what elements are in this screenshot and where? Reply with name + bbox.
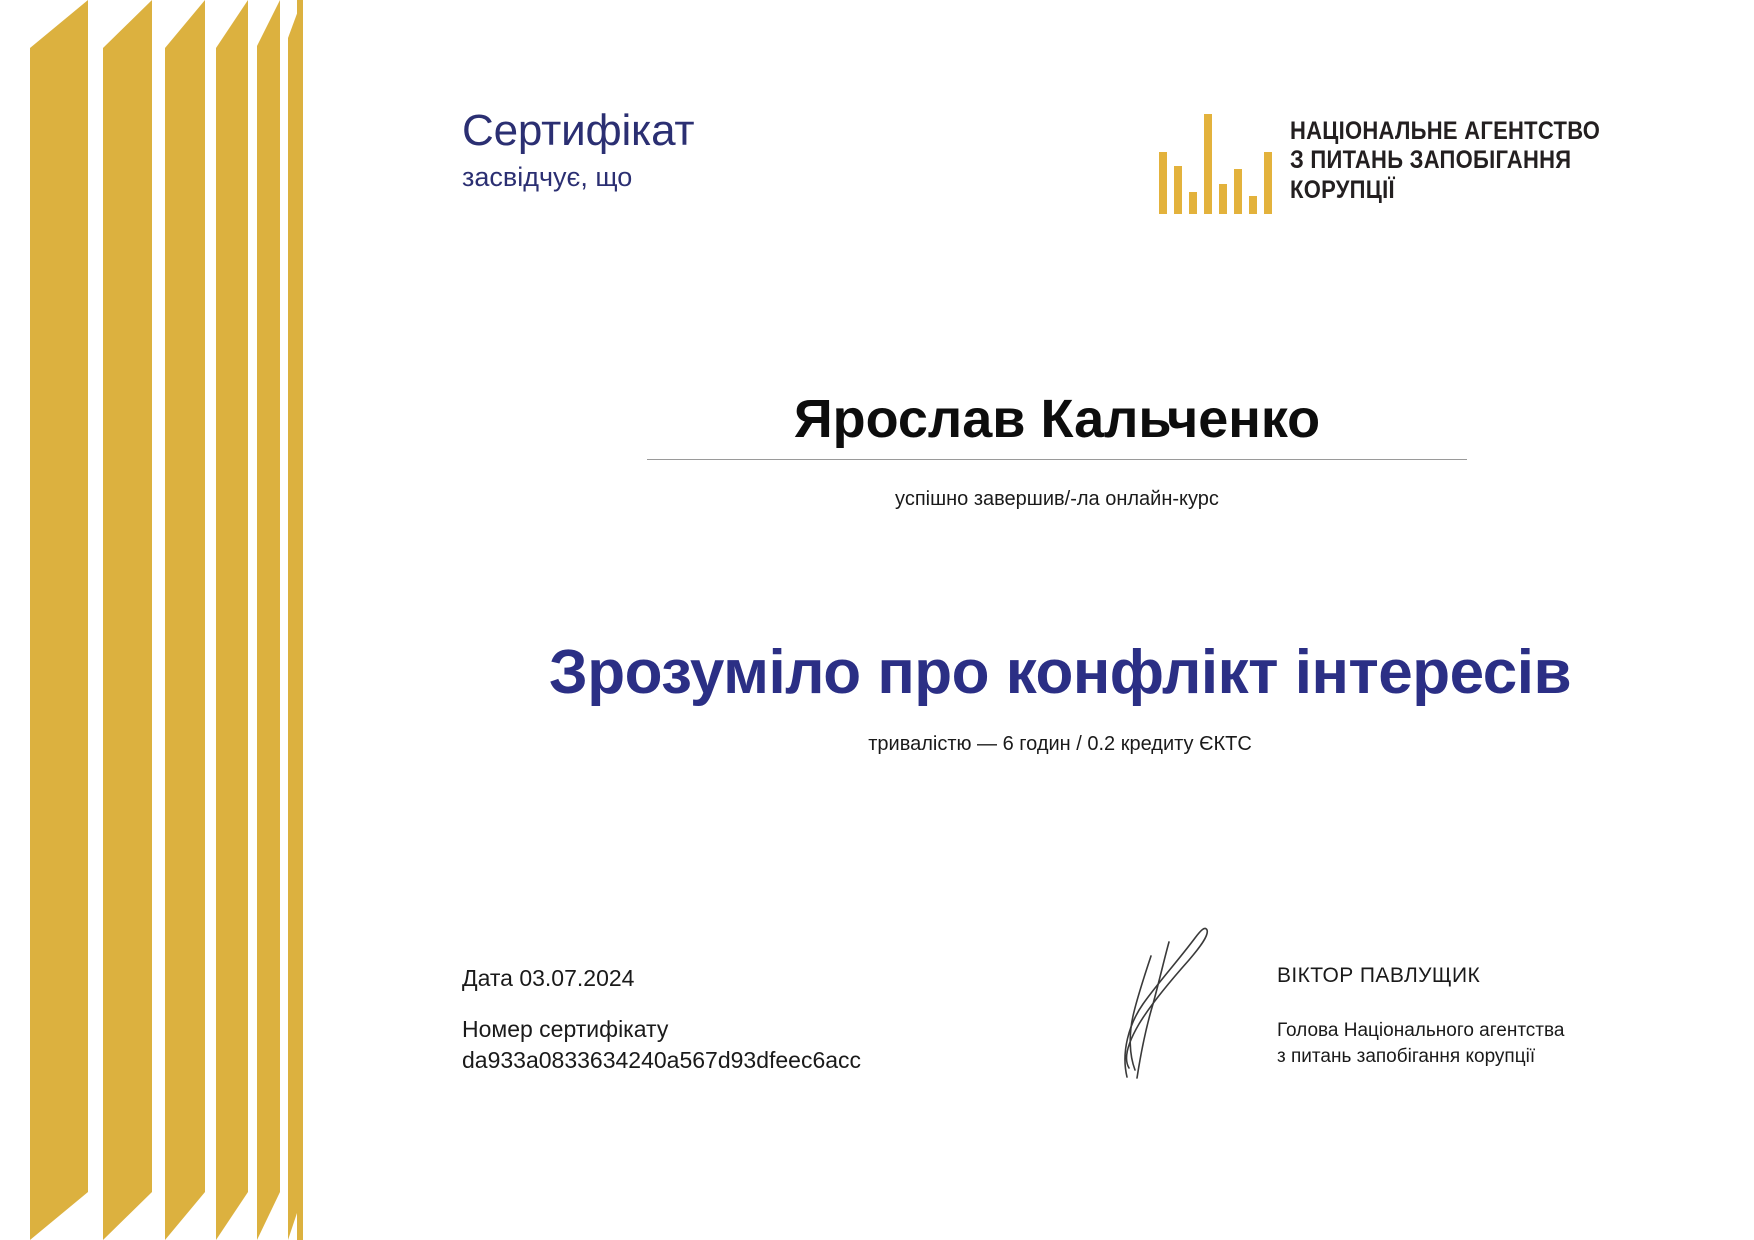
stripe-1 (30, 0, 88, 1240)
date-label: Дата (462, 965, 513, 991)
footer-left: Дата 03.07.2024 Номер сертифікату da933a… (462, 962, 861, 1076)
stripe-4 (216, 0, 248, 1240)
signatory-role-line-1: Голова Національного агентства (1277, 1020, 1564, 1041)
recipient-underline (647, 459, 1467, 460)
logo-line-1: НАЦІОНАЛЬНЕ АГЕНТСТВО (1290, 117, 1600, 146)
stripe-5 (257, 0, 280, 1240)
course-title: Зрозуміло про конфлікт інтересів (420, 638, 1700, 707)
course-block: Зрозуміло про конфлікт інтересів тривалі… (420, 638, 1700, 756)
logo-bar (1159, 152, 1167, 214)
recipient-block: Ярослав Кальченко успішно завершив/-ла о… (462, 390, 1652, 511)
signatory-role: Голова Національного агентства з питань … (1277, 1018, 1564, 1070)
signature-icon (1085, 912, 1245, 1082)
logo-bar (1174, 166, 1182, 214)
logo-bar (1189, 192, 1197, 214)
logo-bars-icon (1159, 114, 1272, 214)
logo-bar (1249, 196, 1257, 214)
signature-image (1085, 912, 1245, 1082)
decorative-stripes-svg (0, 0, 310, 1240)
stripe-3 (165, 0, 205, 1240)
logo-bar (1204, 114, 1212, 214)
certificate-header: Сертифікат засвідчує, що НАЦІОНАЛЬНЕ АГЕ… (462, 108, 1642, 214)
signatory-block: ВІКТОР ПАВЛУЩИК Голова Національного аге… (1277, 912, 1564, 1070)
date-line: Дата 03.07.2024 (462, 962, 861, 994)
page-subtitle: засвідчує, що (462, 162, 694, 193)
stripe-7 (297, 0, 303, 1240)
page-title: Сертифікат (462, 108, 694, 154)
date-value: 03.07.2024 (519, 965, 634, 991)
logo-line-3: КОРУПЦІЇ (1290, 176, 1600, 205)
footer-right: ВІКТОР ПАВЛУЩИК Голова Національного аге… (1085, 912, 1564, 1082)
course-duration: тривалістю — 6 годин / 0.2 кредиту ЄКТС (420, 733, 1700, 756)
certificate-page: Сертифікат засвідчує, що НАЦІОНАЛЬНЕ АГЕ… (0, 0, 1754, 1240)
stripe-2 (103, 0, 152, 1240)
certificate-number-value: da933a0833634240a567d93dfeec6acc (462, 1045, 861, 1076)
logo-text: НАЦІОНАЛЬНЕ АГЕНТСТВО З ПИТАНЬ ЗАПОБІГАН… (1290, 114, 1642, 205)
logo-bar (1219, 184, 1227, 214)
signatory-name: ВІКТОР ПАВЛУЩИК (1277, 964, 1564, 988)
completion-text: успішно завершив/-ла онлайн-курс (462, 488, 1652, 511)
title-block: Сертифікат засвідчує, що (462, 108, 694, 193)
certificate-number-label: Номер сертифікату (462, 1014, 861, 1045)
logo-bar (1264, 152, 1272, 214)
signatory-role-line-2: з питань запобігання корупції (1277, 1046, 1535, 1067)
logo-bar (1234, 169, 1242, 214)
stripe-group (30, 0, 303, 1240)
recipient-name: Ярослав Кальченко (462, 390, 1652, 459)
logo-line-2: З ПИТАНЬ ЗАПОБІГАННЯ (1290, 146, 1600, 175)
nazk-logo: НАЦІОНАЛЬНЕ АГЕНТСТВО З ПИТАНЬ ЗАПОБІГАН… (1159, 114, 1642, 214)
